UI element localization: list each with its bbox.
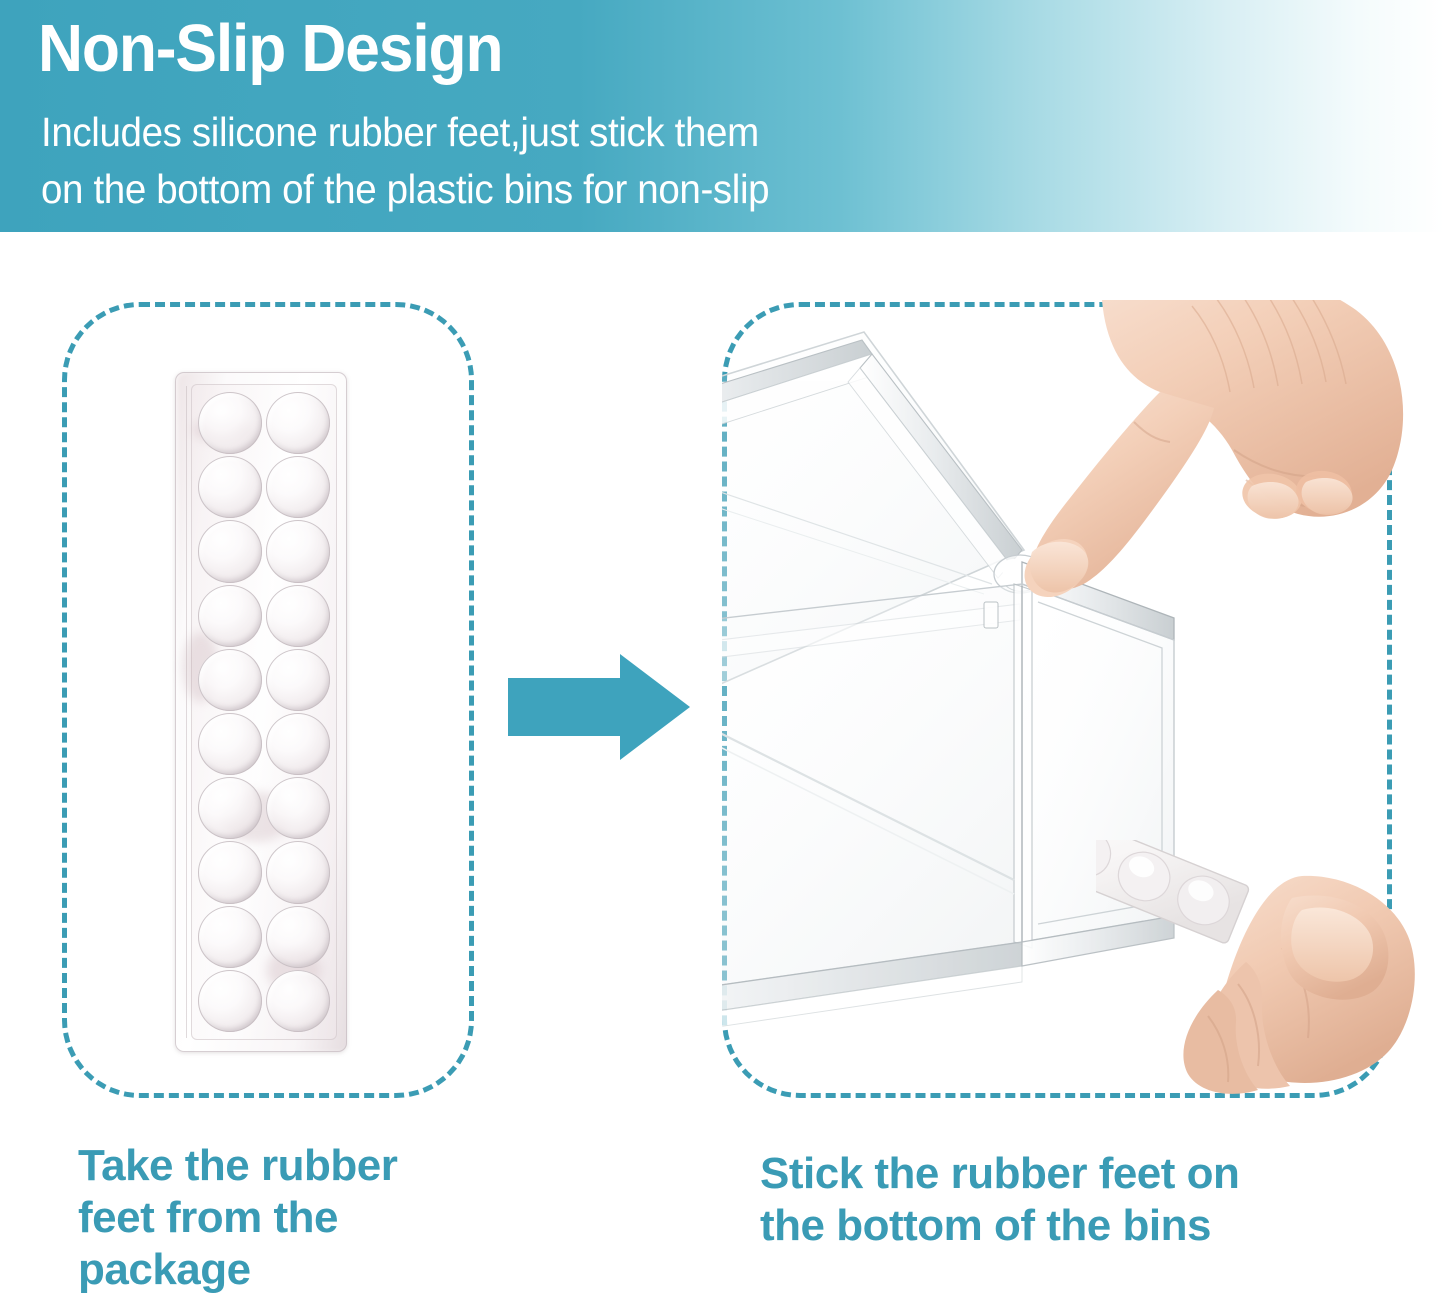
rubber-foot: [266, 585, 330, 647]
left-caption-line-3: package: [78, 1244, 508, 1296]
rubber-foot: [198, 970, 262, 1032]
rubber-foot: [266, 456, 330, 518]
rubber-foot: [198, 585, 262, 647]
rubber-foot: [198, 713, 262, 775]
rubber-foot: [266, 906, 330, 968]
left-caption-line-1: Take the rubber: [78, 1140, 508, 1192]
right-arrow: [508, 648, 690, 766]
page-title: Non-Slip Design: [38, 6, 502, 92]
hand-pressing-rubber-foot: [984, 300, 1404, 620]
banner-subtitle-line-1: Includes silicone rubber feet,just stick…: [41, 104, 769, 161]
rubber-foot: [266, 713, 330, 775]
header-banner: Non-Slip Design Includes silicone rubber…: [0, 0, 1445, 232]
rubber-foot: [198, 777, 262, 839]
right-caption-line-2: the bottom of the bins: [760, 1200, 1400, 1252]
rubber-feet-grid: [198, 392, 330, 1032]
rubber-foot: [266, 520, 330, 582]
rubber-foot: [266, 970, 330, 1032]
rubber-feet-strip-4pads: [1096, 840, 1250, 944]
rubber-foot: [198, 906, 262, 968]
rubber-foot: [266, 392, 330, 454]
banner-subtitle-line-2: on the bottom of the plastic bins for no…: [41, 161, 769, 218]
right-caption-line-1: Stick the rubber feet on: [760, 1148, 1400, 1200]
rubber-foot: [198, 649, 262, 711]
banner-subtitle: Includes silicone rubber feet,just stick…: [41, 104, 769, 218]
right-panel-caption: Stick the rubber feet on the bottom of t…: [760, 1148, 1400, 1252]
hand-holding-rubber-feet-strip: [1096, 840, 1416, 1100]
rubber-foot: [266, 649, 330, 711]
rubber-foot: [198, 392, 262, 454]
left-panel-caption: Take the rubber feet from the package: [78, 1140, 508, 1296]
left-caption-line-2: feet from the: [78, 1192, 508, 1244]
silicone-rubber-feet-blister-strip: [175, 372, 347, 1052]
blister-strip-seam: [186, 386, 187, 1038]
rubber-foot: [198, 456, 262, 518]
rubber-foot: [266, 841, 330, 903]
rubber-foot: [266, 777, 330, 839]
rubber-foot: [198, 841, 262, 903]
rubber-foot: [198, 520, 262, 582]
